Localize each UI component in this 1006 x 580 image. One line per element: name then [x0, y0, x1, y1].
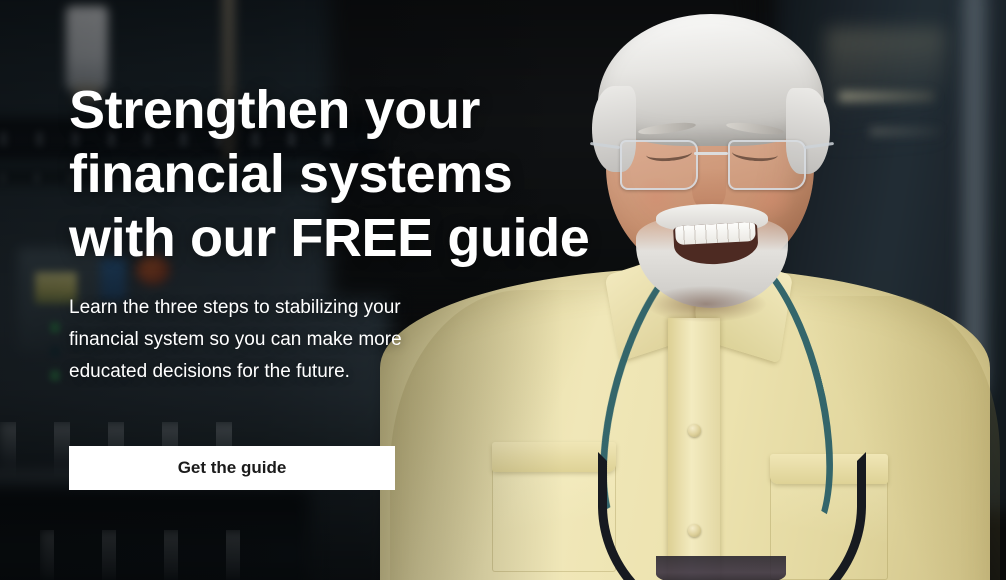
- hero-subheading: Learn the three steps to stabilizing you…: [69, 270, 469, 388]
- page-title: Strengthen your financial systems with o…: [69, 78, 609, 270]
- panel-indicator-light: [50, 370, 60, 381]
- eyeglass-lens-right: [728, 140, 806, 190]
- eyeglass-lens-left: [620, 140, 698, 190]
- sunglasses-lens: [656, 556, 786, 580]
- eyeglass-bridge: [694, 152, 728, 155]
- hero-banner: Strengthen your financial systems with o…: [0, 0, 1006, 580]
- hero-content: Strengthen your financial systems with o…: [69, 78, 609, 490]
- get-the-guide-button[interactable]: Get the guide: [69, 446, 395, 490]
- bottle-row: [40, 530, 270, 580]
- chin-shadow: [646, 286, 766, 322]
- panel-indicator-light: [50, 346, 60, 357]
- eyeglasses: [618, 132, 806, 194]
- teeth-separations: [673, 222, 754, 245]
- panel-indicator-light: [50, 322, 60, 333]
